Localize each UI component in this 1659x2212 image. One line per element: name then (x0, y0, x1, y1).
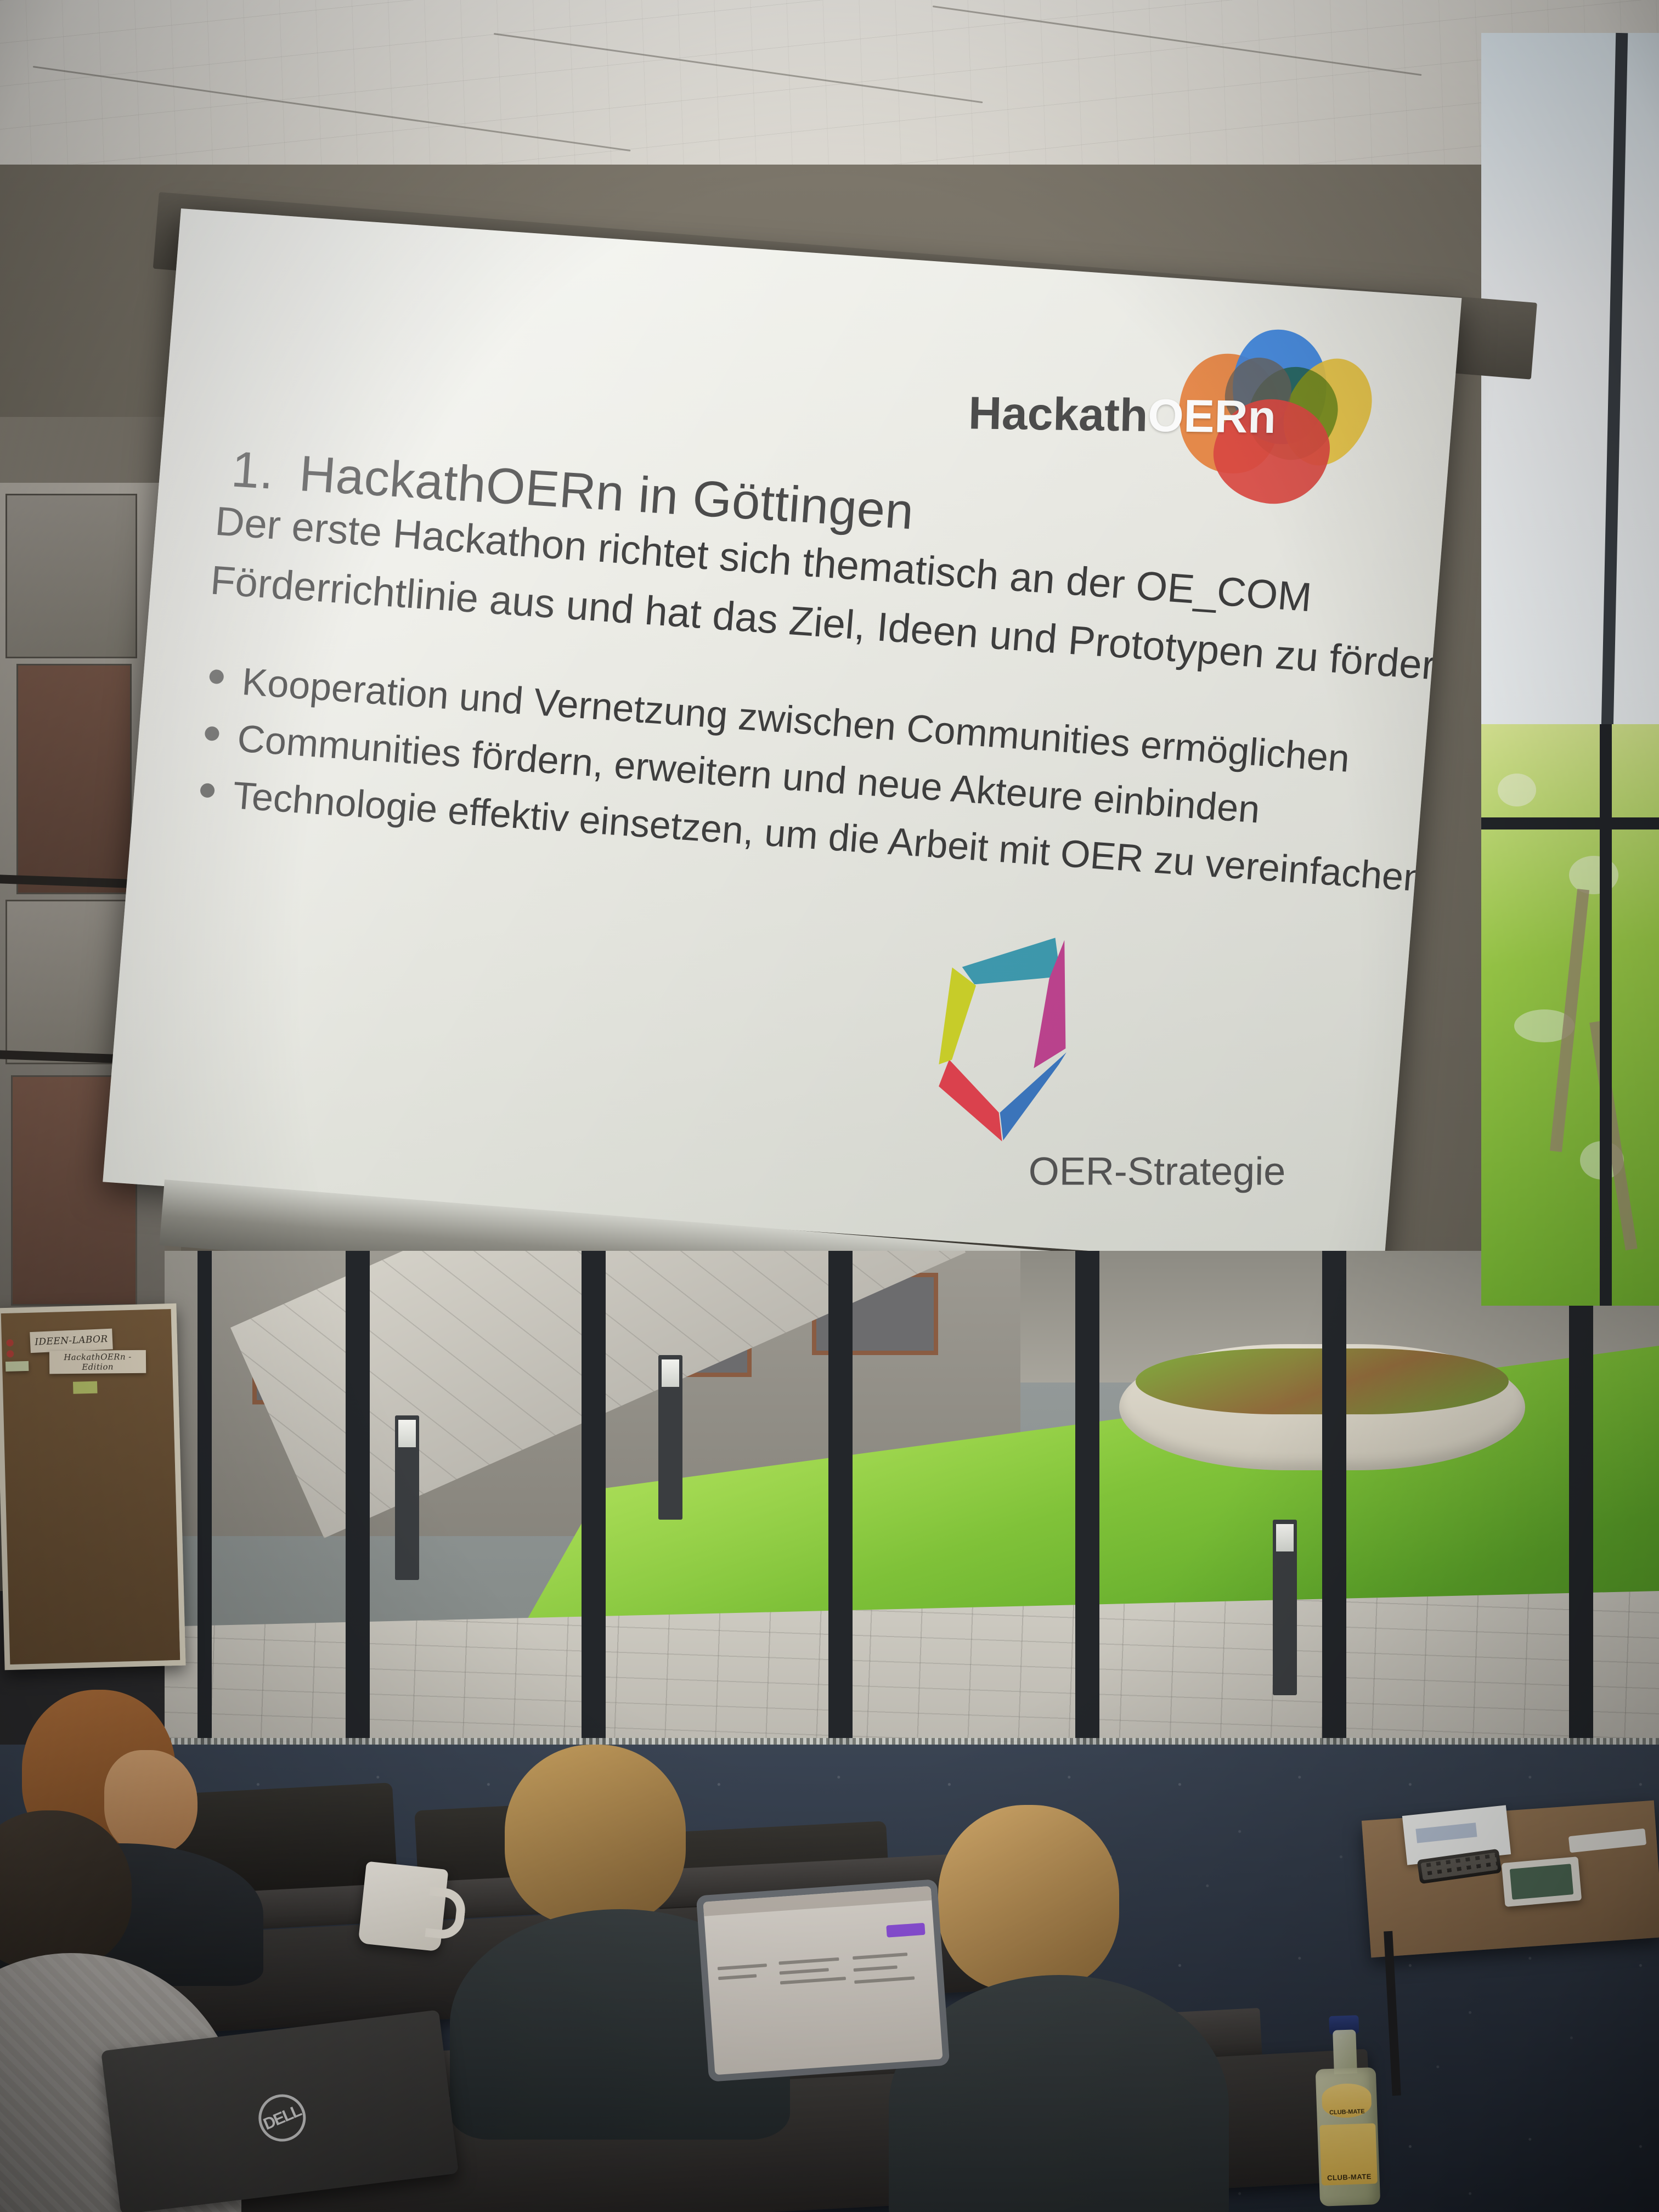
laptop-screen (703, 1886, 943, 2075)
window-mullion (582, 1251, 606, 1788)
logo-word-dark: Hackath (968, 387, 1148, 441)
projection-screen: HackathOERn 1.HackathOERn in Göttingen D… (103, 208, 1462, 1272)
pinboard-note-title: IDEEN-LABOR (30, 1329, 113, 1353)
window-mullion (346, 1251, 370, 1788)
bollard-light (658, 1355, 682, 1520)
window-mullion (1481, 817, 1659, 830)
window-mullion (1075, 1251, 1099, 1788)
hackathoern-logo: HackathOERn (962, 314, 1392, 518)
window-mullion (198, 1251, 212, 1788)
window-mullion (1569, 1251, 1593, 1788)
window-mullion (1601, 33, 1628, 730)
bollard-light (1273, 1520, 1297, 1695)
bullet-dot-icon (200, 783, 215, 798)
window-mullion (1600, 724, 1612, 1306)
laptop-accent-button (886, 1923, 925, 1938)
oer-pentagon-icon (920, 900, 1175, 1163)
pinboard: IDEEN-LABOR HackathOERn - Edition (0, 1304, 186, 1670)
person-hair (505, 1745, 686, 1926)
bottle-label-top: CLUB-MATE (1322, 2083, 1372, 2118)
logo-wordmark: HackathOERn (968, 386, 1386, 445)
open-laptop (696, 1879, 950, 2082)
logo-word-light: OERn (1147, 390, 1277, 443)
bullet-dot-icon (204, 726, 219, 741)
oer-strategie-logo: OER-Strategie (917, 900, 1323, 1211)
oer-strategie-label: OER-Strategie (1028, 1149, 1285, 1194)
dell-logo: DELL (251, 2087, 313, 2149)
coffee-mug (358, 1861, 449, 1952)
person-face (104, 1750, 198, 1854)
photo-scene: HackathOERn 1.HackathOERn in Göttingen D… (0, 0, 1659, 2212)
laptop-lid (696, 1879, 950, 2082)
club-mate-bottle: CLUB-MATE CLUB-MATE (1313, 2007, 1380, 2207)
presentation-slide: HackathOERn 1.HackathOERn in Göttingen D… (157, 272, 1408, 1208)
touch-control-panel[interactable] (1502, 1857, 1582, 1907)
slide-bullet-list: Kooperation und Vernetzung zwischen Comm… (198, 651, 1356, 901)
bullet-dot-icon (209, 669, 224, 685)
slide-title-number: 1. (229, 441, 276, 501)
window-mullion (1322, 1251, 1346, 1788)
window-mullion (828, 1251, 853, 1788)
bottle-label: CLUB-MATE (1319, 2123, 1378, 2185)
projection-screen-assembly: HackathOERn 1.HackathOERn in Göttingen D… (181, 208, 1569, 1404)
window-wall (165, 1251, 1659, 1788)
bollard-light (395, 1415, 419, 1580)
pinboard-sticky-note (5, 1361, 29, 1372)
person-hair (938, 1805, 1119, 1991)
pinboard-sticky-note (73, 1381, 98, 1394)
pinboard-note-subtitle: HackathOERn - Edition (49, 1350, 146, 1374)
tree-window (1481, 724, 1659, 1306)
